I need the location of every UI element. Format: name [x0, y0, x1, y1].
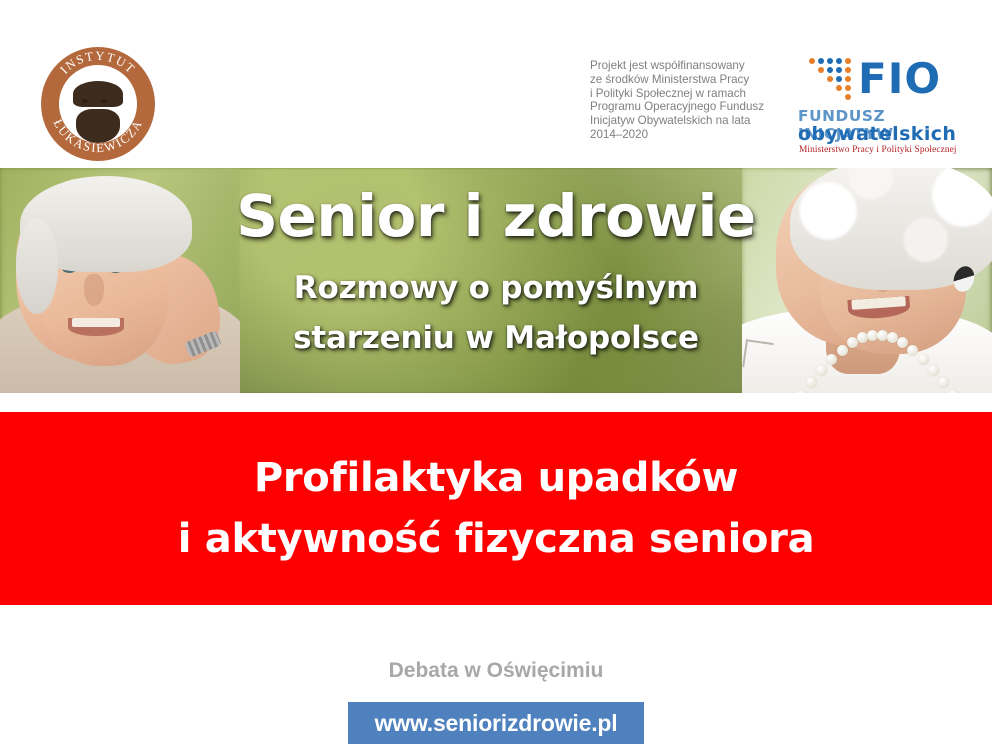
slide-title-line1: Profilaktyka upadków	[178, 448, 815, 509]
seal-bottom-arc-label: ŁUKASIEWICZA	[51, 117, 146, 155]
website-url-box[interactable]: www.seniorizdrowie.pl	[348, 702, 644, 744]
slide-header: INSTYTUT ŁUKASIEWICZA Projekt jest współ…	[0, 0, 992, 168]
banner-subtitle: Rozmowy o pomyślnym starzeniu w Małopols…	[0, 266, 992, 360]
seal-arc-text: INSTYTUT ŁUKASIEWICZA	[41, 47, 155, 161]
fio-dot-matrix-icon	[802, 57, 854, 103]
website-url-label: www.seniorizdrowie.pl	[375, 710, 618, 737]
banner-title: Senior i zdrowie	[0, 184, 992, 248]
fio-tagline-line2: obywatelskich	[798, 123, 956, 145]
seal-top-arc-label: INSTYTUT	[57, 49, 138, 77]
senior-i-zdrowie-banner: Senior i zdrowie Rozmowy o pomyślnym sta…	[0, 168, 992, 393]
slide-title-line2: i aktywność fizyczna seniora	[178, 509, 815, 570]
fio-wordmark: FIO	[858, 53, 941, 105]
instytut-lukasiewicza-logo: INSTYTUT ŁUKASIEWICZA	[41, 47, 155, 161]
grant-funding-note: Projekt jest współfinansowany ze środków…	[590, 59, 805, 142]
slide-title-band: Profilaktyka upadków i aktywność fizyczn…	[0, 412, 992, 605]
banner-subtitle-line1: Rozmowy o pomyślnym	[0, 266, 992, 310]
fio-logo: FIO FUNDUSZ INICJATYW obywatelskich Mini…	[796, 55, 960, 155]
slide-title: Profilaktyka upadków i aktywność fizyczn…	[178, 448, 815, 570]
event-caption: Debata w Oświęcimiu	[0, 659, 992, 683]
banner-subtitle-line2: starzeniu w Małopolsce	[0, 316, 992, 360]
fio-ministry-label: Ministerstwo Pracy i Polityki Społecznej	[799, 145, 957, 155]
